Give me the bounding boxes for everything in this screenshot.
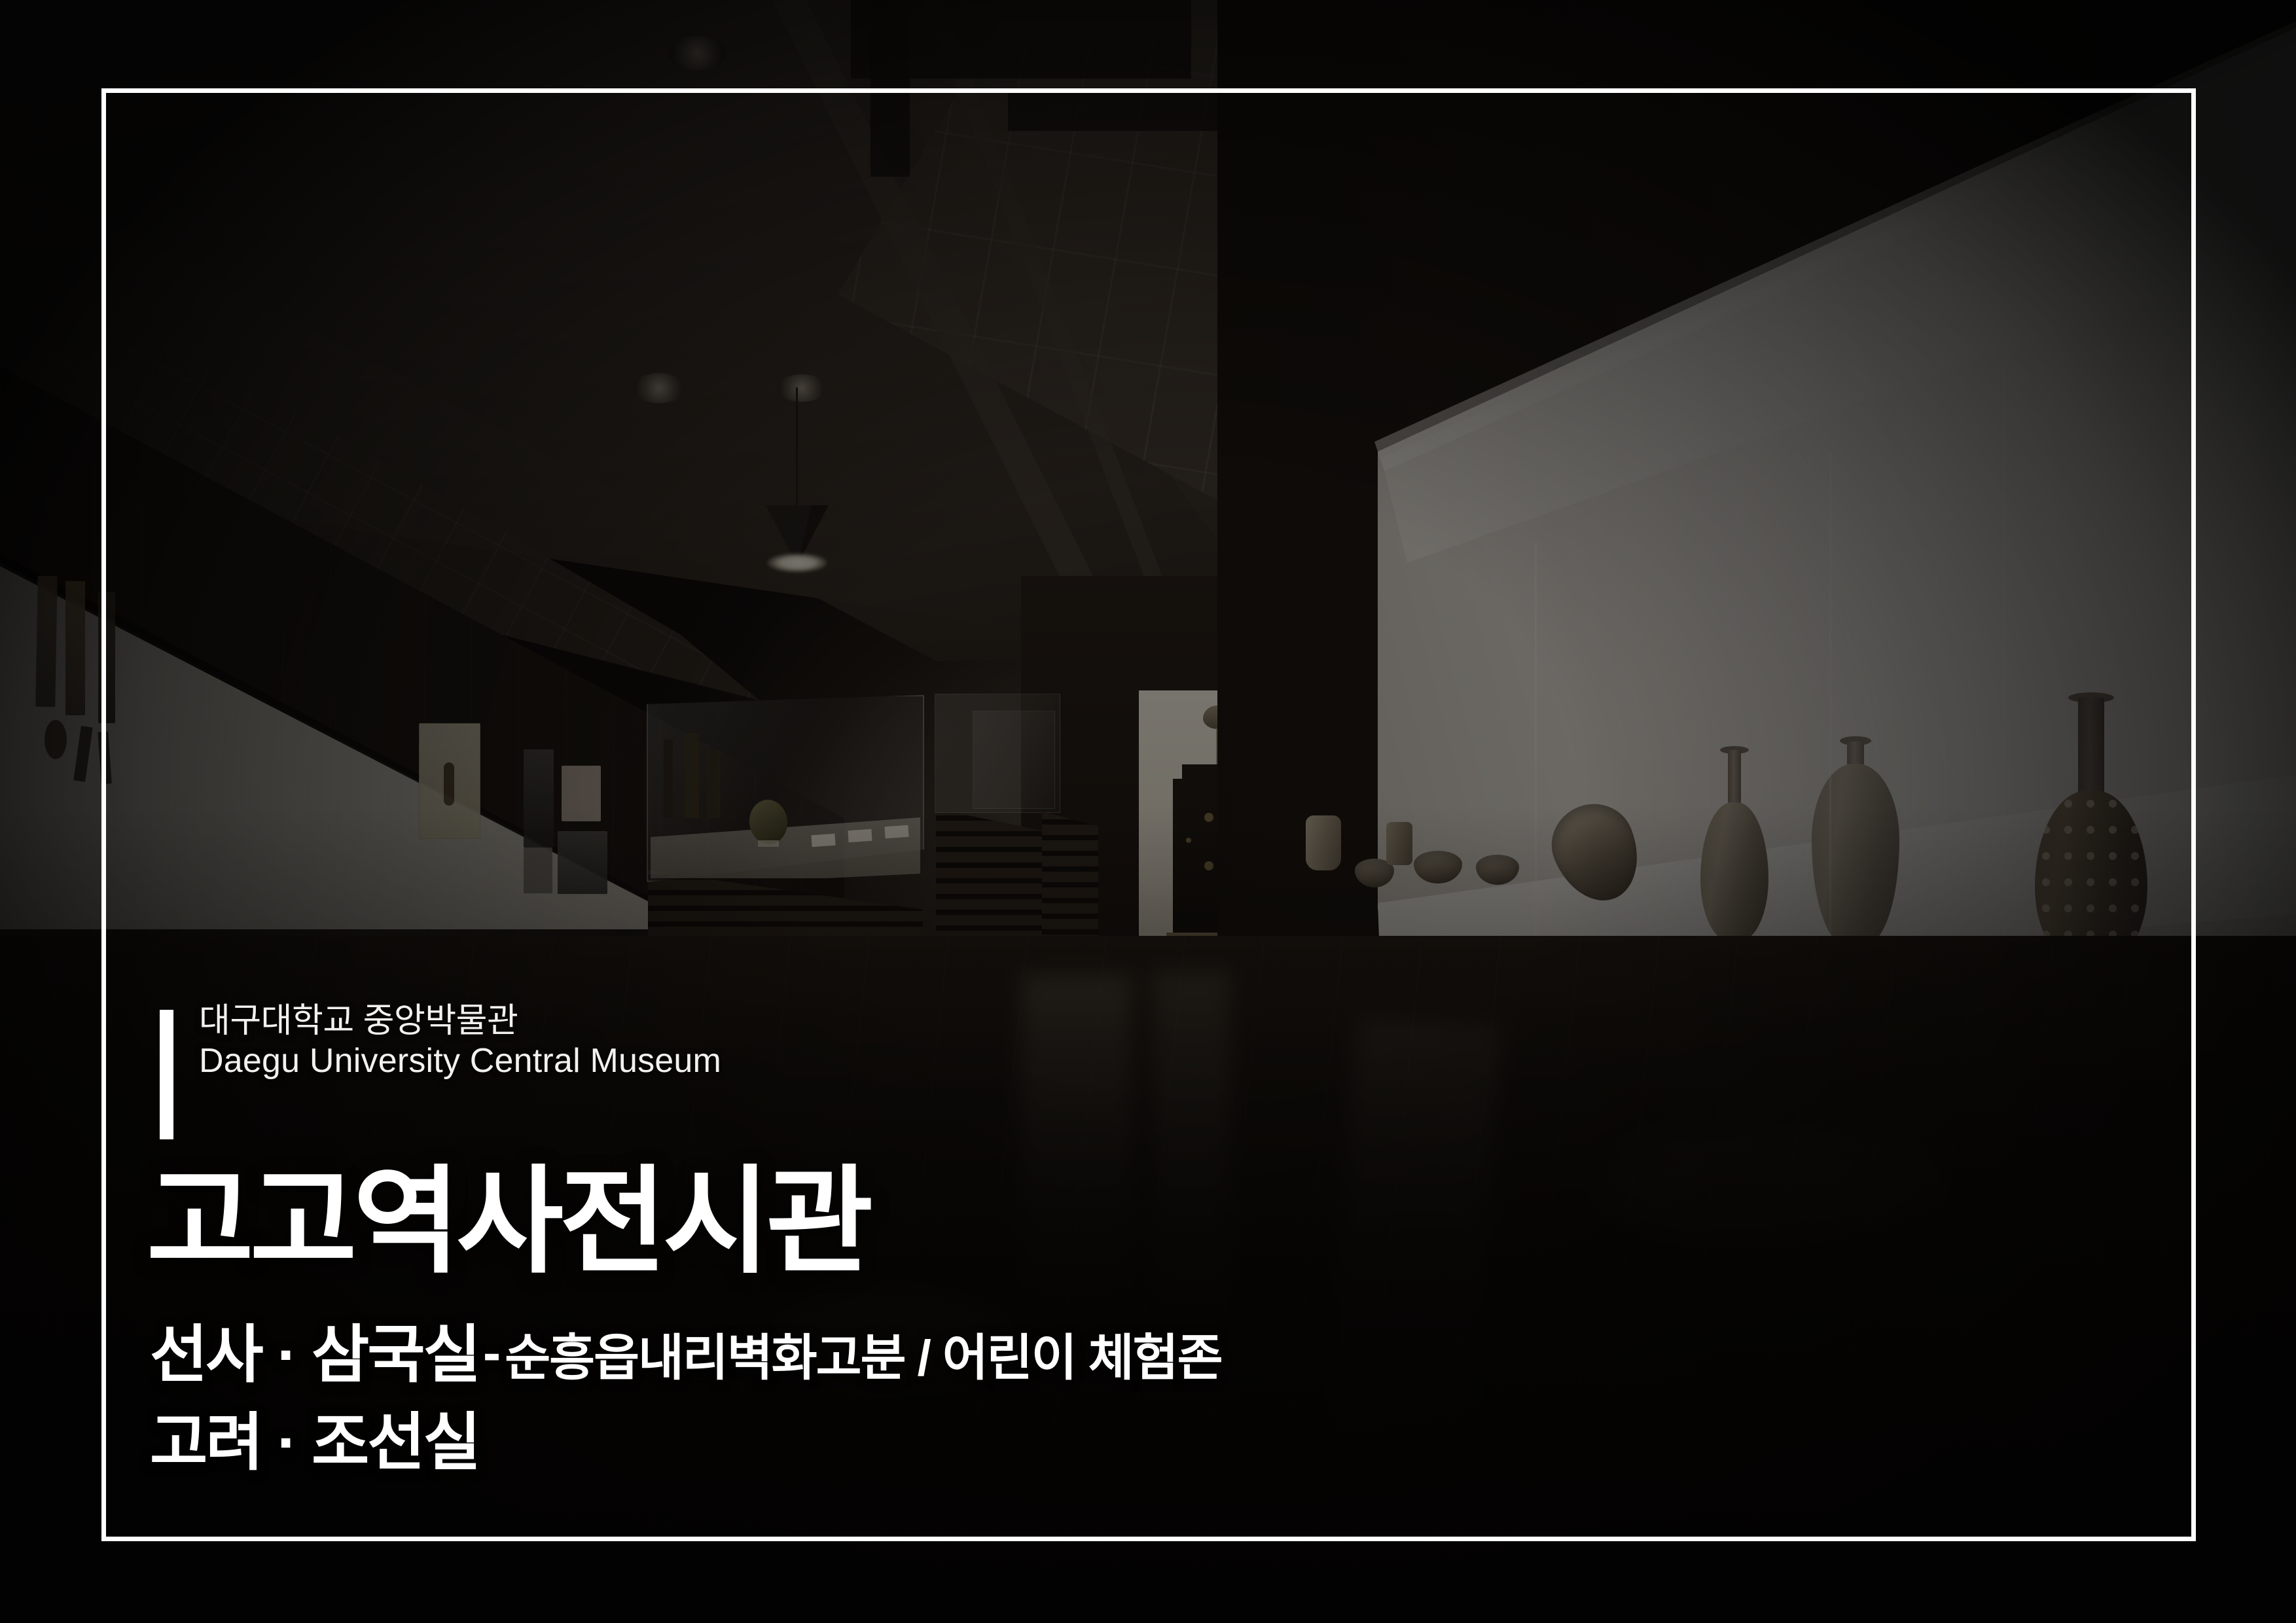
artifact-stand	[758, 840, 779, 847]
rooms-line-1: 선사 · 삼국실-순흥읍내리벽화고분 / 어린이 체험존	[150, 1304, 1222, 1395]
case-label	[848, 829, 872, 842]
museum-name-en: Daegu University Central Museum	[199, 1041, 721, 1081]
recessed-light	[632, 373, 687, 403]
room-separator-dash: -	[479, 1323, 505, 1383]
banner-root: 대구대학교 중앙박물관 Daegu University Central Mus…	[0, 0, 2296, 1623]
room-secondary: 순흥읍내리벽화고분 / 어린이 체험존	[505, 1330, 1221, 1386]
recessed-light	[776, 374, 828, 402]
case-artifact	[524, 749, 554, 847]
pendant-lamp-cord	[796, 387, 798, 507]
floor-reflection	[1021, 975, 1132, 1315]
case-label	[811, 834, 835, 847]
page-title: 고고역사전시관	[147, 1164, 869, 1280]
room-primary: 선사 · 삼국실	[150, 1320, 479, 1390]
pendant-lamp-glow	[767, 553, 827, 573]
case-label	[884, 825, 908, 838]
case-artifact	[562, 766, 601, 821]
ceramic-jar	[1306, 815, 1341, 870]
ceramic-vase	[2029, 692, 2153, 967]
cabinet-knob	[1204, 813, 1213, 822]
recessed-light	[668, 36, 726, 70]
case-artifact	[708, 750, 720, 818]
floor-reflection	[1604, 1126, 1944, 1243]
freestanding-vitrine	[973, 711, 1055, 809]
cabinet-knob	[1204, 861, 1213, 870]
rooms-line-2: 고려 · 조선실	[150, 1391, 479, 1482]
ceramic-vase	[1806, 736, 1905, 946]
museum-identity: 대구대학교 중앙박물관 Daegu University Central Mus…	[199, 1001, 721, 1082]
ceiling-vent	[870, 0, 910, 177]
ceramic-jar	[1386, 822, 1412, 865]
case-artifact	[664, 740, 673, 818]
museum-name-kr: 대구대학교 중앙박물관	[199, 1001, 721, 1041]
cabinet-knob	[1186, 838, 1191, 843]
case-artifact	[685, 733, 699, 818]
accent-bar	[160, 1010, 173, 1139]
ceramic-vase	[1695, 746, 1774, 942]
